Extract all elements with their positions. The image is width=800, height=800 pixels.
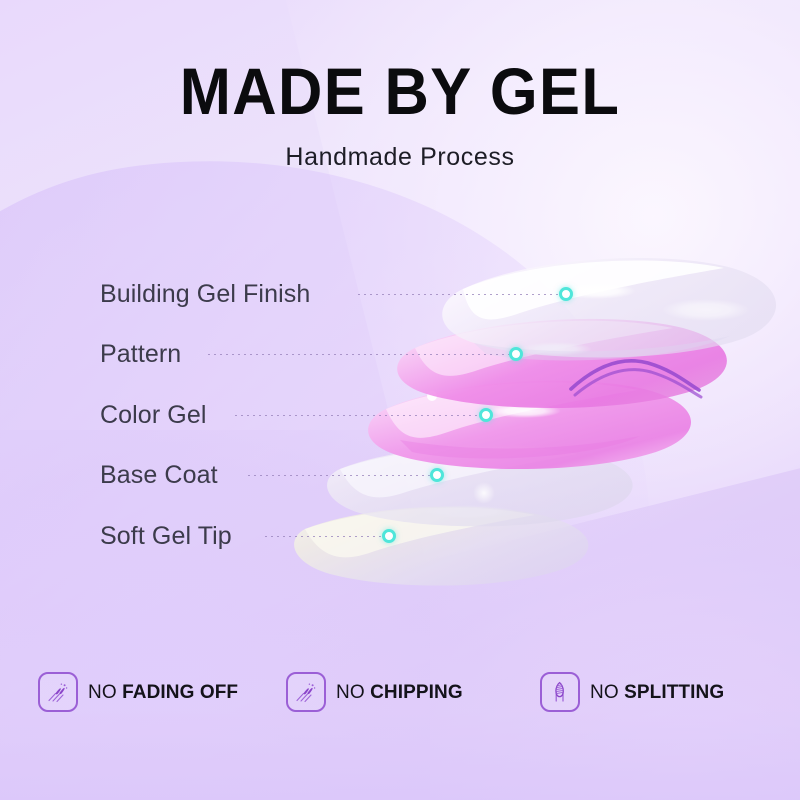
callout-label: Building Gel Finish [100,282,310,307]
callout-label: Base Coat [100,463,218,488]
callout-label: Soft Gel Tip [100,524,232,549]
callout-base-coat: Base Coat [100,458,370,492]
page-title: MADE BY GEL [28,58,772,124]
nail-brush-strokes-icon [286,672,326,712]
layer-marker-dot [382,529,396,543]
feature-emphasis: CHIPPING [370,682,463,703]
feature-badge-no-splitting: NO SPLITTING [518,672,772,712]
layer-marker-dot [509,347,523,361]
feature-prefix: NO [336,682,365,703]
layer-marker-dot [559,287,573,301]
layer-marker-dot [479,408,493,422]
callout-building-gel-finish: Building Gel Finish [100,277,480,311]
leader-line [235,414,483,416]
leader-line [248,474,434,476]
leader-line [358,293,563,295]
feature-emphasis: SPLITTING [624,682,724,703]
callout-label: Color Gel [100,403,207,428]
header: MADE BY GEL Handmade Process [0,58,800,170]
feature-badge-text: NO SPLITTING [590,683,724,702]
layer-marker-dot [430,468,444,482]
feature-badge-text: NO FADING OFF [88,683,238,702]
feature-badge-text: NO CHIPPING [336,683,463,702]
feature-badge-row: NO FADING OFF [0,672,800,712]
nail-brush-strokes-glyph [46,680,70,704]
nail-file-glyph [548,680,572,704]
callout-pattern: Pattern [100,337,440,371]
callout-soft-gel-tip: Soft Gel Tip [100,519,350,553]
feature-emphasis: FADING OFF [122,682,238,703]
feature-badge-no-chipping: NO CHIPPING [270,672,518,712]
nail-brush-strokes-glyph [294,680,318,704]
feature-prefix: NO [88,682,117,703]
nail-brush-strokes-icon [38,672,78,712]
feature-badge-no-fading-off: NO FADING OFF [28,672,270,712]
page-subtitle: Handmade Process [0,145,800,170]
leader-line [265,535,386,537]
product-infographic: MADE BY GEL Handmade Process [0,0,800,800]
leader-line [208,353,513,355]
feature-prefix: NO [590,682,619,703]
callout-color-gel: Color Gel [100,398,420,432]
callout-label: Pattern [100,342,181,367]
nail-file-icon [540,672,580,712]
